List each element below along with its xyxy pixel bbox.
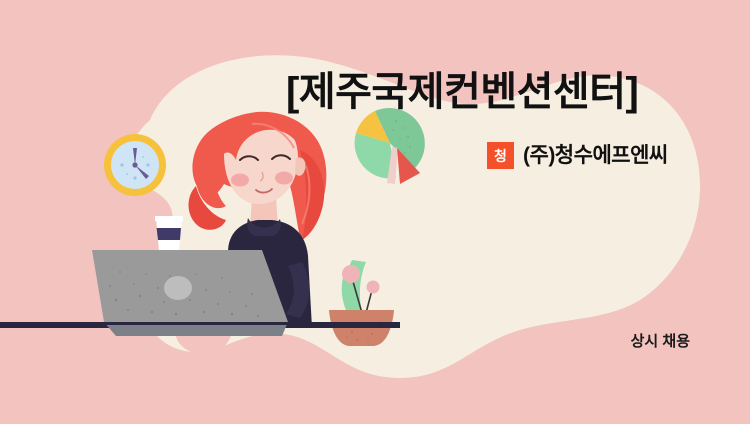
text-overlay: [제주국제컨벤션센터] 청 (주)청수에프엔씨 상시 채용 xyxy=(0,0,750,424)
company-name: (주)청수에프엔씨 xyxy=(523,145,668,166)
recruitment-status-label: 상시 채용 xyxy=(631,330,690,351)
company-badge: 청 xyxy=(487,142,514,169)
company-row: 청 (주)청수에프엔씨 xyxy=(487,142,668,169)
page-title: [제주국제컨벤션센터] xyxy=(286,72,638,112)
job-posting-banner: [제주국제컨벤션센터] 청 (주)청수에프엔씨 상시 채용 xyxy=(0,0,750,424)
